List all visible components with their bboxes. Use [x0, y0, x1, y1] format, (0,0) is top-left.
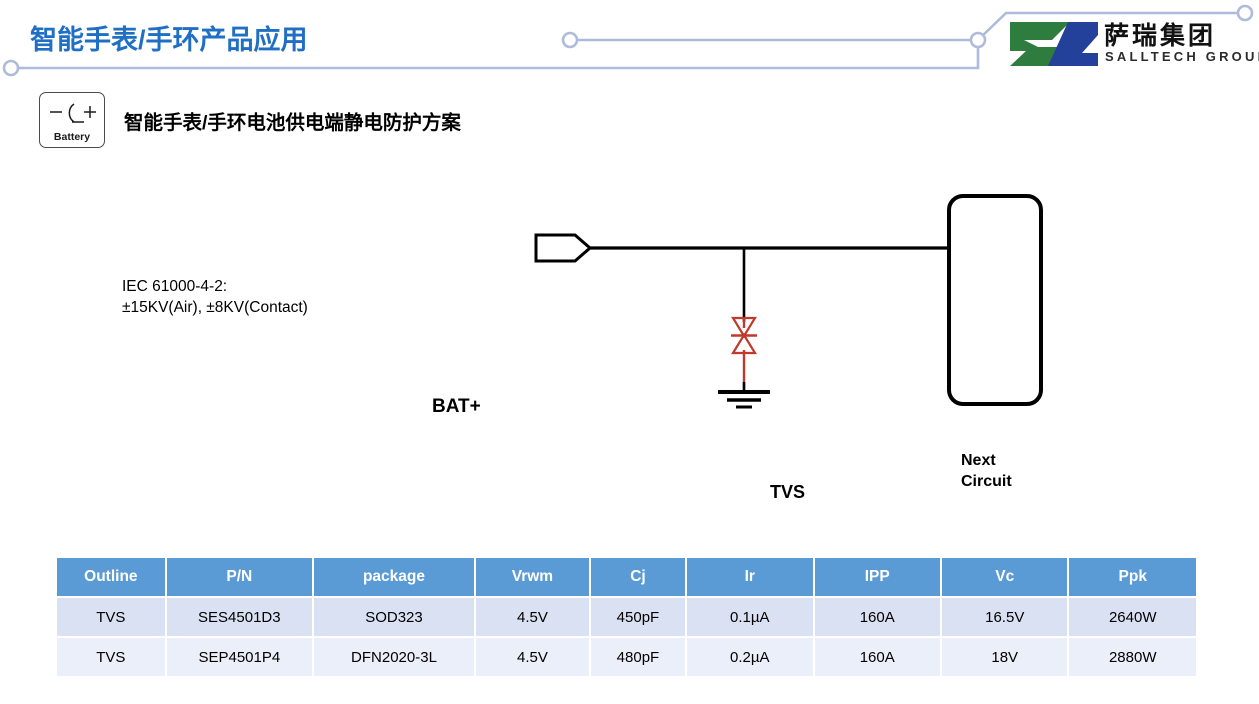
- column-header-cj[interactable]: Cj: [590, 558, 686, 597]
- cell-cj: 450pF: [590, 597, 686, 637]
- battery-badge-label: Battery: [40, 131, 104, 143]
- label-bat-plus: BAT+: [432, 396, 481, 418]
- circuit-schematic-svg: [0, 160, 1259, 540]
- section-title: 智能手表/手环电池供电端静电防护方案: [124, 106, 461, 135]
- cell-pn: SEP4501P4: [166, 637, 313, 677]
- logo-name-en: SALLTECH GROUP: [1105, 49, 1259, 64]
- cell-vc: 18V: [941, 637, 1068, 677]
- page-title: 智能手表/手环产品应用: [30, 18, 308, 57]
- cell-pn: SES4501D3: [166, 597, 313, 637]
- column-header-ipp[interactable]: IPP: [814, 558, 941, 597]
- trace-node-left: [4, 61, 18, 75]
- ground-symbol-icon: [718, 382, 770, 407]
- cell-ipp: 160A: [814, 597, 941, 637]
- column-header-vrwm[interactable]: Vrwm: [475, 558, 590, 597]
- cell-ppk: 2640W: [1068, 597, 1196, 637]
- table-row[interactable]: TVS SEP4501P4 DFN2020-3L 4.5V 480pF 0.2µ…: [57, 637, 1196, 677]
- label-next-circuit-line2: Circuit: [961, 471, 1012, 492]
- label-next-circuit-line1: Next: [961, 450, 1012, 471]
- table-header-row: Outline P/N package Vrwm Cj Ir IPP Vc Pp…: [57, 558, 1196, 597]
- pennant-connector-icon: [536, 235, 590, 261]
- trace-node-mid: [563, 33, 577, 47]
- brand-logo: 萨瑞集团 SALLTECH GROUP: [1008, 16, 1248, 74]
- cell-vc: 16.5V: [941, 597, 1068, 637]
- label-tvs: TVS: [770, 482, 805, 503]
- page-header: 智能手表/手环产品应用 萨瑞集团 SALLTECH GROUP: [0, 0, 1259, 92]
- label-next-circuit: Next Circuit: [961, 450, 1012, 492]
- table-row[interactable]: TVS SES4501D3 SOD323 4.5V 450pF 0.1µA 16…: [57, 597, 1196, 637]
- cell-package: SOD323: [313, 597, 475, 637]
- cell-cj: 480pF: [590, 637, 686, 677]
- cell-ir: 0.1µA: [686, 597, 813, 637]
- cell-outline: TVS: [57, 597, 166, 637]
- next-circuit-block: [949, 196, 1041, 404]
- column-header-ppk[interactable]: Ppk: [1068, 558, 1196, 597]
- column-header-pn[interactable]: P/N: [166, 558, 313, 597]
- battery-symbol-icon: [46, 100, 100, 130]
- cell-outline: TVS: [57, 637, 166, 677]
- salltech-logo-icon: [1008, 19, 1100, 69]
- cell-ipp: 160A: [814, 637, 941, 677]
- cell-vrwm: 4.5V: [475, 637, 590, 677]
- battery-badge: Battery: [39, 92, 105, 148]
- column-header-outline[interactable]: Outline: [57, 558, 166, 597]
- logo-name-cn: 萨瑞集团: [1104, 16, 1216, 52]
- column-header-vc[interactable]: Vc: [941, 558, 1068, 597]
- trace-node-junction: [971, 33, 985, 47]
- column-header-ir[interactable]: Ir: [686, 558, 813, 597]
- cell-package: DFN2020-3L: [313, 637, 475, 677]
- circuit-diagram: IEC 61000-4-2: ±15KV(Air), ±8KV(Contact)…: [0, 160, 1259, 540]
- cell-ppk: 2880W: [1068, 637, 1196, 677]
- cell-ir: 0.2µA: [686, 637, 813, 677]
- column-header-package[interactable]: package: [313, 558, 475, 597]
- cell-vrwm: 4.5V: [475, 597, 590, 637]
- spec-table: Outline P/N package Vrwm Cj Ir IPP Vc Pp…: [57, 558, 1196, 678]
